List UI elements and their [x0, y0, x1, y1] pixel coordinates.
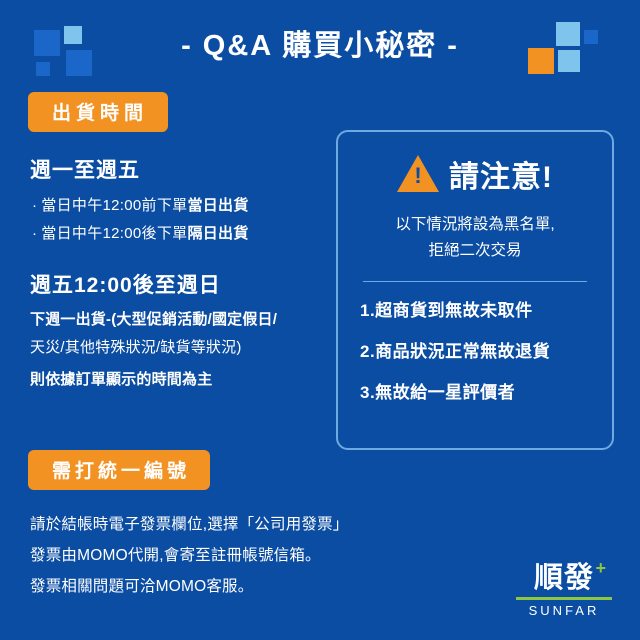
shipping-bullet-1-text: 當日中午12:00前下單: [41, 197, 187, 214]
weekend-line-1: 下週一出貨-(大型促銷活動/國定假日/: [30, 309, 328, 331]
invoice-section: 需打統一編號 請於結帳時電子發票欄位,選擇「公司用發票」 發票由MOMO代開,會…: [28, 450, 498, 605]
notice-subtitle-line-1: 以下情況將設為黑名單,: [354, 212, 596, 238]
notice-header: ! 請注意!: [354, 152, 596, 196]
notice-divider: [363, 281, 587, 282]
brand-logo-cn-text: 順發: [534, 562, 594, 594]
invoice-line-3: 發票相關問題可洽MOMO客服。: [30, 574, 498, 596]
brand-logo-en: SUNFAR: [510, 603, 618, 618]
plus-icon: +: [595, 559, 607, 579]
invoice-badge: 需打統一編號: [28, 450, 210, 490]
shipping-section: 出貨時間 週一至週五 ·當日中午12:00前下單當日出貨 ·當日中午12:00後…: [28, 92, 328, 396]
brand-logo: 順發 + SUNFAR: [510, 563, 618, 618]
shipping-bullet-1-emph: 當日出貨: [187, 197, 248, 214]
shipping-time-badge: 出貨時間: [28, 92, 168, 132]
invoice-line-1: 請於結帳時電子發票欄位,選擇「公司用發票」: [30, 512, 498, 534]
poster-root: - Q&A 購買小秘密 - 出貨時間 週一至週五 ·當日中午12:00前下單當日…: [0, 0, 640, 640]
shipping-bullet-1: ·當日中午12:00前下單當日出貨: [32, 194, 328, 215]
page-header: - Q&A 購買小秘密 -: [0, 22, 640, 64]
shipping-bullet-2-text: 當日中午12:00後下單: [41, 225, 187, 242]
notice-item-3: 3.無故給一星評價者: [360, 378, 596, 403]
notice-subtitle: 以下情況將設為黑名單, 拒絕二次交易: [354, 212, 596, 265]
shipping-bullet-2: ·當日中午12:00後下單隔日出貨: [32, 222, 328, 243]
invoice-line-2: 發票由MOMO代開,會寄至註冊帳號信箱。: [30, 543, 498, 565]
weekend-line-3: 則依據訂單顯示的時間為主: [30, 369, 328, 391]
bullet-dot-icon: ·: [32, 197, 37, 214]
warning-triangle-icon: !: [397, 155, 439, 193]
notice-item-2: 2.商品狀況正常無故退貨: [360, 337, 596, 362]
brand-logo-cn: 順發 +: [534, 563, 594, 595]
notice-title: 請注意!: [449, 152, 553, 196]
bullet-dot-icon: ·: [32, 225, 37, 242]
decor-square-tl-4: [36, 62, 50, 76]
brand-logo-bar: [516, 597, 612, 600]
notice-subtitle-line-2: 拒絕二次交易: [354, 238, 596, 264]
shipping-bullet-2-emph: 隔日出貨: [187, 225, 248, 242]
weekend-line-2: 天災/其他特殊狀況/缺貨等狀況): [30, 337, 328, 359]
notice-box: ! 請注意! 以下情況將設為黑名單, 拒絕二次交易 1.超商貨到無故未取件 2.…: [336, 130, 614, 450]
weekend-heading: 週五12:00後至週日: [30, 269, 328, 299]
notice-item-1: 1.超商貨到無故未取件: [360, 296, 596, 321]
weekday-heading: 週一至週五: [30, 154, 328, 184]
page-title: - Q&A 購買小秘密 -: [0, 22, 640, 64]
